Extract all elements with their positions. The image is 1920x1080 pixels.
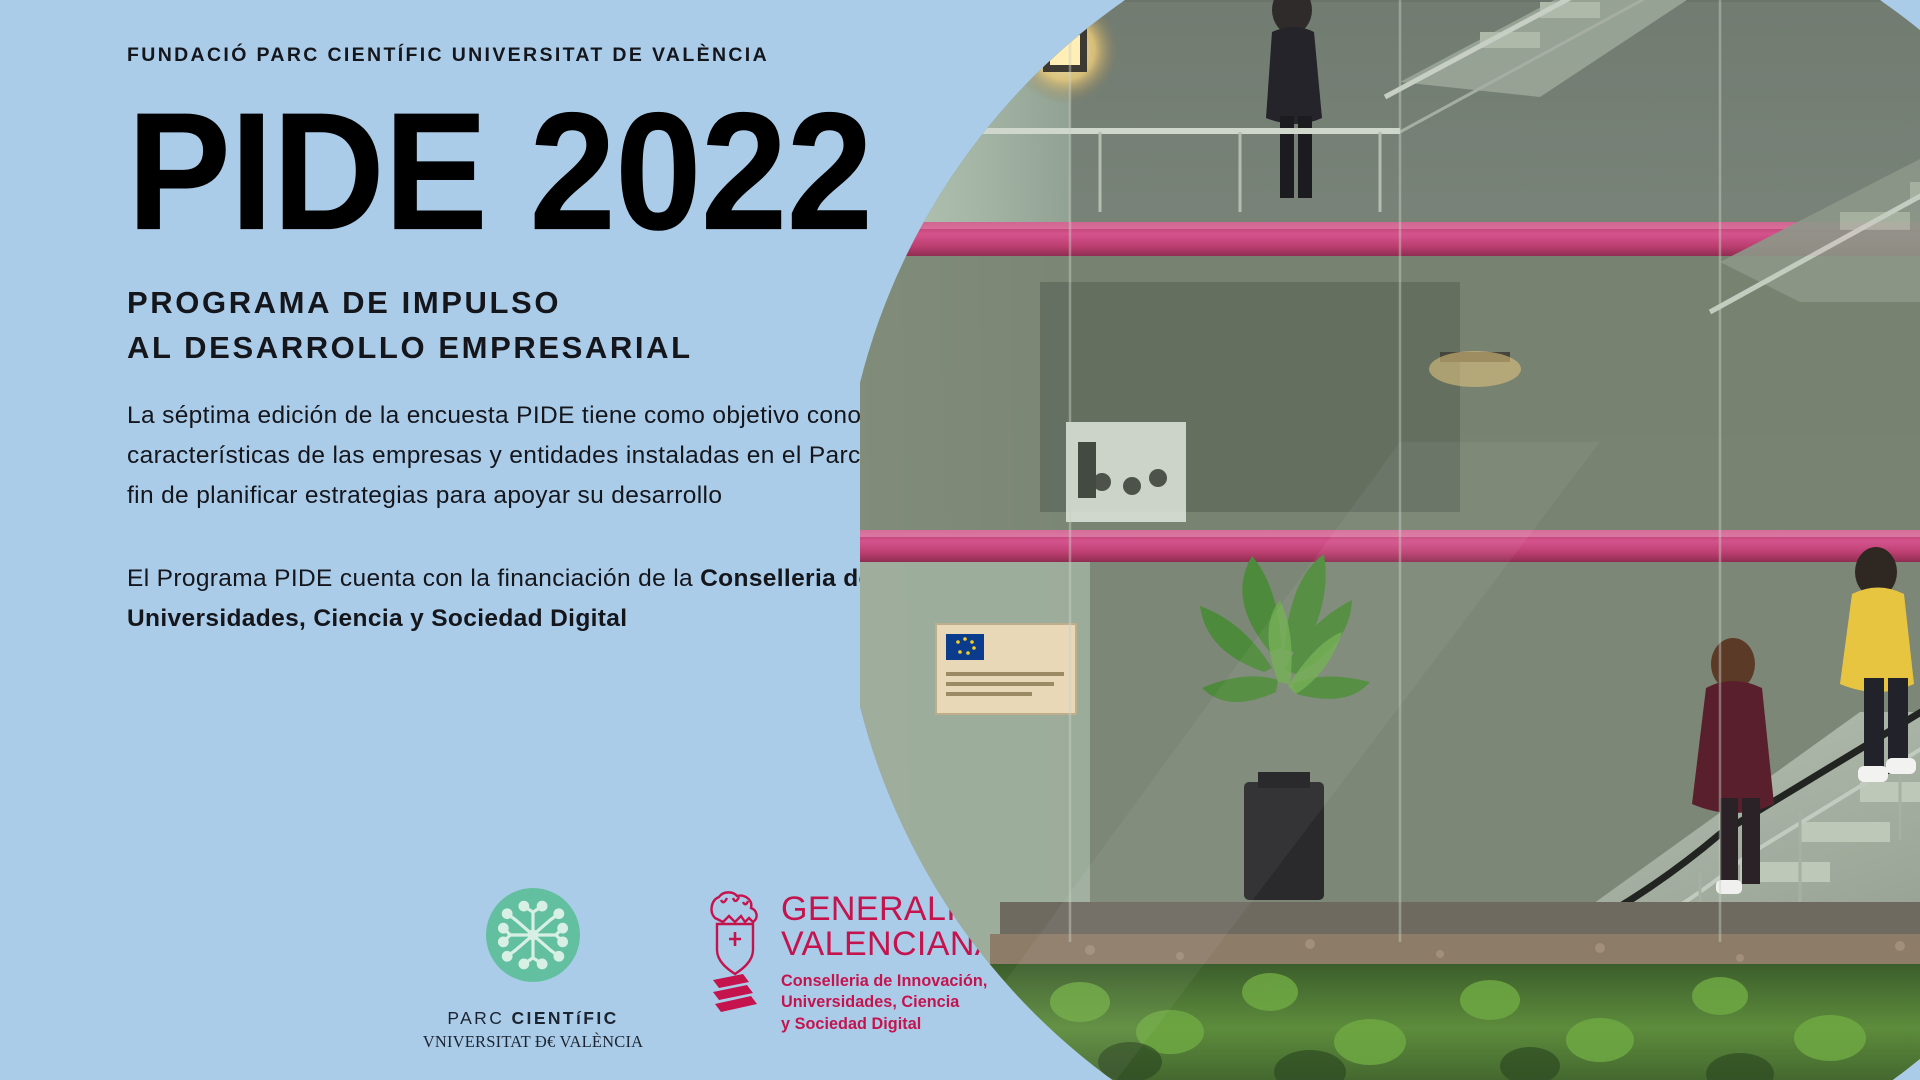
eu-plaque <box>936 624 1076 714</box>
parc-cientific-logo: PARC CIENTíFIC VNIVERSITAT Ð€ VALÈNCIA <box>433 888 633 1052</box>
parc-label: PARC <box>447 1008 511 1028</box>
parc-cientific-wordmark: PARC CIENTíFIC VNIVERSITAT Ð€ VALÈNCIA <box>423 1008 644 1052</box>
building-photo <box>860 0 1920 1080</box>
universitat-label: VNIVERSITAT Ð€ VALÈNCIA <box>423 1032 644 1052</box>
circular-photo-mask <box>860 0 1920 1080</box>
molecule-icon <box>486 888 580 982</box>
funding-intro-text: El Programa PIDE cuenta con la financiac… <box>127 565 700 592</box>
crowned-bat-crest-icon <box>703 888 767 1023</box>
cientific-label: CIENTíFIC <box>512 1008 619 1028</box>
